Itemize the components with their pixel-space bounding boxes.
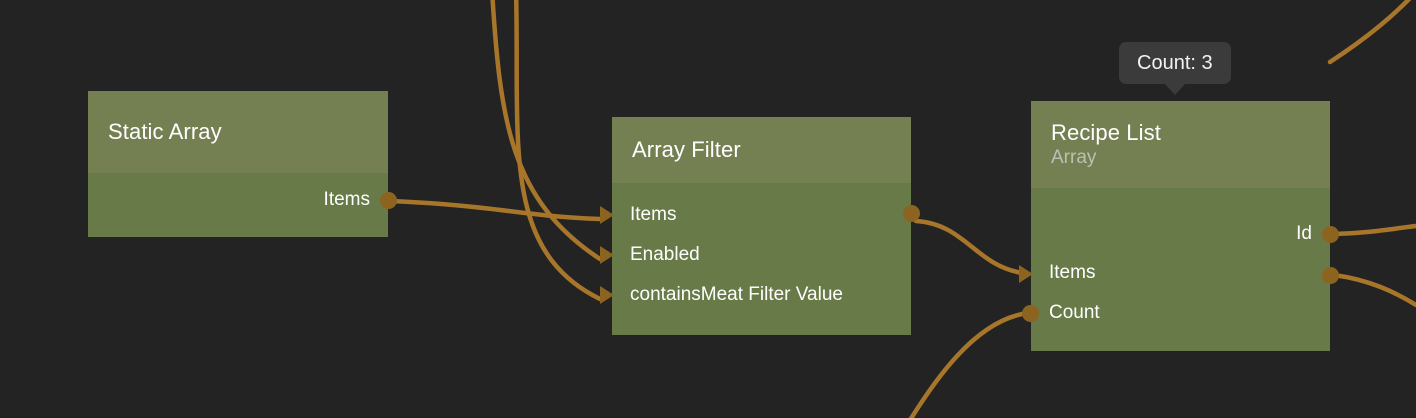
- node-static-array-title: Static Array: [108, 119, 368, 145]
- node-recipe-list-header[interactable]: Recipe List Array: [1031, 101, 1330, 188]
- port-label-recipe-list-count: Count: [1049, 302, 1100, 324]
- wire-offscreen-top-right-corner: [1330, 0, 1416, 62]
- tooltip-arrow-icon: [1165, 84, 1185, 95]
- wire-offscreen-top-to-array-filter-filter-value: [516, 0, 600, 299]
- port-row-recipe-list-items[interactable]: Items: [1031, 262, 1095, 284]
- wire-offscreen-bottom-to-recipe-list-count: [905, 313, 1028, 418]
- wire-recipe-list-output2-to-offscreen-right: [1334, 275, 1416, 305]
- port-dot-recipe-list-count[interactable]: [1022, 305, 1039, 322]
- port-dot-array-filter-output[interactable]: [903, 205, 920, 222]
- port-row-array-filter-items[interactable]: Items: [612, 204, 676, 226]
- wire-array-filter-output-to-recipe-list-items: [916, 221, 1022, 273]
- port-dot-recipe-list-output2[interactable]: [1322, 267, 1339, 284]
- node-array-filter[interactable]: Array Filter Items Enabled containsMeat …: [612, 117, 911, 335]
- wire-static-array-items-to-array-filter-items: [392, 201, 600, 219]
- node-recipe-list-title: Recipe List: [1051, 120, 1310, 146]
- node-static-array-header[interactable]: Static Array: [88, 91, 388, 173]
- wire-offscreen-top-to-array-filter-enabled: [492, 0, 600, 259]
- port-arrow-array-filter-items[interactable]: [600, 206, 614, 224]
- port-dot-static-array-items[interactable]: [380, 192, 397, 209]
- port-row-recipe-list-count[interactable]: Count: [1031, 302, 1100, 324]
- tooltip-count-text: Count: 3: [1137, 52, 1213, 74]
- port-dot-recipe-list-id[interactable]: [1322, 226, 1339, 243]
- port-label-static-array-items: Items: [324, 189, 370, 211]
- port-row-array-filter-enabled[interactable]: Enabled: [612, 244, 700, 266]
- node-array-filter-header[interactable]: Array Filter: [612, 117, 911, 183]
- wire-recipe-list-id-to-offscreen-right: [1334, 226, 1416, 234]
- tooltip-count: Count: 3: [1119, 42, 1231, 84]
- node-recipe-list[interactable]: Count: 3 Recipe List Array Id Items Coun…: [1031, 101, 1330, 351]
- port-row-static-array-items[interactable]: Items: [324, 189, 388, 211]
- node-static-array-body: Items: [88, 173, 388, 237]
- node-recipe-list-body: Id Items Count: [1031, 188, 1330, 351]
- port-row-array-filter-filter-value[interactable]: containsMeat Filter Value: [612, 284, 843, 306]
- port-label-array-filter-filter-value: containsMeat Filter Value: [630, 284, 843, 306]
- node-array-filter-body: Items Enabled containsMeat Filter Value: [612, 183, 911, 335]
- node-recipe-list-subtitle: Array: [1051, 146, 1310, 169]
- port-label-recipe-list-items: Items: [1049, 262, 1095, 284]
- node-array-filter-title: Array Filter: [632, 137, 891, 163]
- port-label-array-filter-enabled: Enabled: [630, 244, 700, 266]
- port-arrow-array-filter-enabled[interactable]: [600, 246, 614, 264]
- port-arrow-array-filter-filter-value[interactable]: [600, 286, 614, 304]
- node-static-array[interactable]: Static Array Items: [88, 91, 388, 237]
- port-label-array-filter-items: Items: [630, 204, 676, 226]
- node-graph-canvas[interactable]: Static Array Items Array Filter Items En…: [0, 0, 1416, 418]
- port-label-recipe-list-id: Id: [1296, 223, 1312, 245]
- port-arrow-recipe-list-items[interactable]: [1019, 265, 1033, 283]
